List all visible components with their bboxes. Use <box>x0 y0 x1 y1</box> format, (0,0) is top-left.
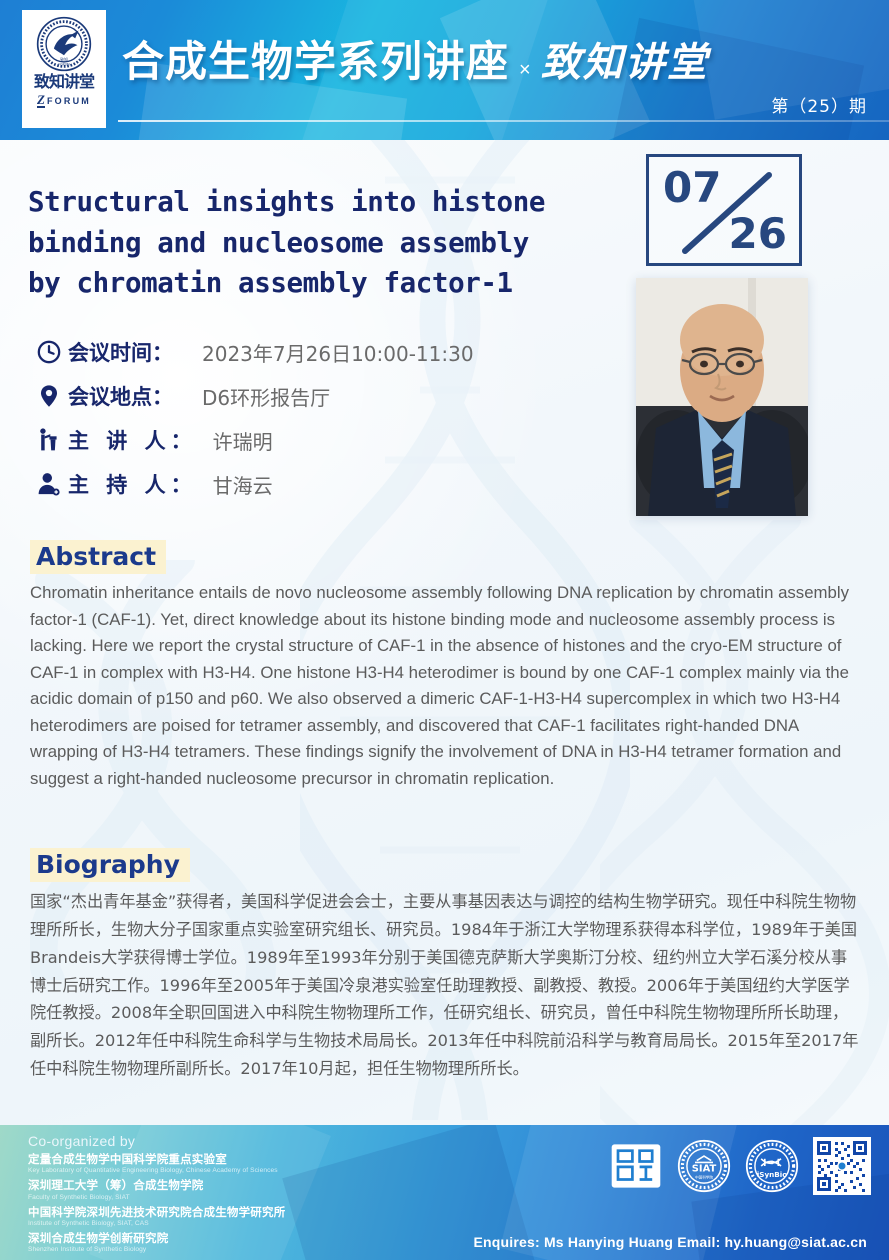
org-en-2: Faculty of Synthetic Biology, SIAT <box>28 1193 285 1203</box>
footer-logo-group: SIAT 中国科学院 iSynBio <box>609 1137 871 1195</box>
info-row-host: 主 持 人： 甘海云 <box>30 462 590 506</box>
contact-line: Enquires: Ms Hanying Huang Email: hy.hua… <box>473 1234 867 1250</box>
info-value-location: D6环形报告厅 <box>202 382 330 411</box>
qr-code-icon[interactable] <box>813 1137 871 1195</box>
header-title-main: 合成生物学系列讲座 <box>122 28 509 89</box>
info-label-time: 会议时间： <box>68 337 186 367</box>
organization-list: 定量合成生物学中国科学院重点实验室 Key Laboratory of Quan… <box>28 1152 285 1257</box>
header-title: 合成生物学系列讲座 × 致知讲堂 <box>122 28 709 89</box>
poster-footer: Co-organized by 定量合成生物学中国科学院重点实验室 Key La… <box>0 1125 889 1260</box>
biography-section: Biography 国家“杰出青年基金”获得者，美国科学促进会会士，主要从事基因… <box>30 848 862 1083</box>
svg-text:SIAT: SIAT <box>692 1163 717 1174</box>
poster-root: 致知 FORUM 致知讲堂 Z FORUM 合成生物学系列讲座 × 致知讲堂 第… <box>0 0 889 1260</box>
dove-seal-icon: 致知 FORUM <box>36 16 92 72</box>
org-en-1: Key Laboratory of Quantitative Engineeri… <box>28 1166 285 1176</box>
org-cn-3: 中国科学院深圳先进技术研究院合成生物学研究所 <box>28 1205 285 1219</box>
forum-logo: 致知 FORUM 致知讲堂 Z FORUM <box>22 10 106 128</box>
header-title-separator: × <box>517 59 533 82</box>
person-icon <box>30 471 68 497</box>
talk-title-line-2: binding and nucleosome assembly <box>28 223 628 264</box>
forum-logo-en-name: FORUM <box>47 96 91 106</box>
abstract-heading: Abstract <box>30 540 166 574</box>
info-label-location: 会议地点： <box>68 381 186 411</box>
talk-title: Structural insights into histone binding… <box>28 182 628 304</box>
info-value-time: 2023年7月26日10:00-11:30 <box>202 338 474 367</box>
lecturer-podium-icon <box>30 427 68 453</box>
biography-body: 国家“杰出青年基金”获得者，美国科学促进会会士，主要从事基因表达与调控的结构生物… <box>30 888 862 1083</box>
clock-icon <box>30 339 68 365</box>
header-issue-number: 第（25）期 <box>771 92 867 117</box>
org-cn-2: 深圳理工大学（筹）合成生物学院 <box>28 1178 285 1192</box>
talk-title-line-1: Structural insights into histone <box>28 182 628 223</box>
info-value-host: 甘海云 <box>213 470 273 499</box>
info-label-speaker: 主 讲 人： <box>68 425 197 455</box>
biography-heading: Biography <box>30 848 190 882</box>
org-en-3: Institute of Synthetic Biology, SIAT, CA… <box>28 1219 285 1229</box>
event-info-list: 会议时间： 2023年7月26日10:00-11:30 会议地点： D6环形报告… <box>30 330 590 506</box>
info-label-host: 主 持 人： <box>68 469 197 499</box>
event-day: 26 <box>729 213 787 255</box>
forum-logo-en: Z FORUM <box>37 94 91 108</box>
header-divider-line <box>118 120 889 122</box>
info-row-speaker: 主 讲 人： 许瑞明 <box>30 418 590 462</box>
forum-logo-cn-name: 致知讲堂 <box>34 74 94 90</box>
org-en-4: Shenzhen Institute of Synthetic Biology <box>28 1245 285 1255</box>
talk-title-line-3: by chromatin assembly factor-1 <box>28 263 628 304</box>
event-month: 07 <box>663 167 721 209</box>
siat-seal-logo-icon: SIAT 中国科学院 <box>677 1139 731 1193</box>
svg-text:FORUM: FORUM <box>58 62 70 66</box>
abstract-body: Chromatin inheritance entails de novo nu… <box>30 580 862 792</box>
header-title-sub: 致知讲堂 <box>541 30 709 88</box>
co-organized-label: Co-organized by <box>28 1133 135 1149</box>
isynbio-seal-logo-icon: iSynBio <box>745 1139 799 1193</box>
svg-text:iSynBio: iSynBio <box>757 1170 787 1179</box>
org-cn-1: 定量合成生物学中国科学院重点实验室 <box>28 1152 285 1166</box>
poster-header: 致知 FORUM 致知讲堂 Z FORUM 合成生物学系列讲座 × 致知讲堂 第… <box>0 0 889 140</box>
abstract-section: Abstract Chromatin inheritance entails d… <box>30 540 862 792</box>
siat-square-logo-icon <box>609 1139 663 1193</box>
info-row-location: 会议地点： D6环形报告厅 <box>30 374 590 418</box>
info-row-time: 会议时间： 2023年7月26日10:00-11:30 <box>30 330 590 374</box>
forum-logo-z-mark: Z <box>37 94 45 108</box>
svg-text:中国科学院: 中国科学院 <box>695 1175 713 1180</box>
svg-text:致知: 致知 <box>60 57 68 62</box>
event-date-box: 07 26 <box>646 154 802 266</box>
speaker-portrait <box>636 278 808 516</box>
location-pin-icon <box>30 383 68 409</box>
org-cn-4: 深圳合成生物学创新研究院 <box>28 1231 285 1245</box>
info-value-speaker: 许瑞明 <box>213 426 273 455</box>
